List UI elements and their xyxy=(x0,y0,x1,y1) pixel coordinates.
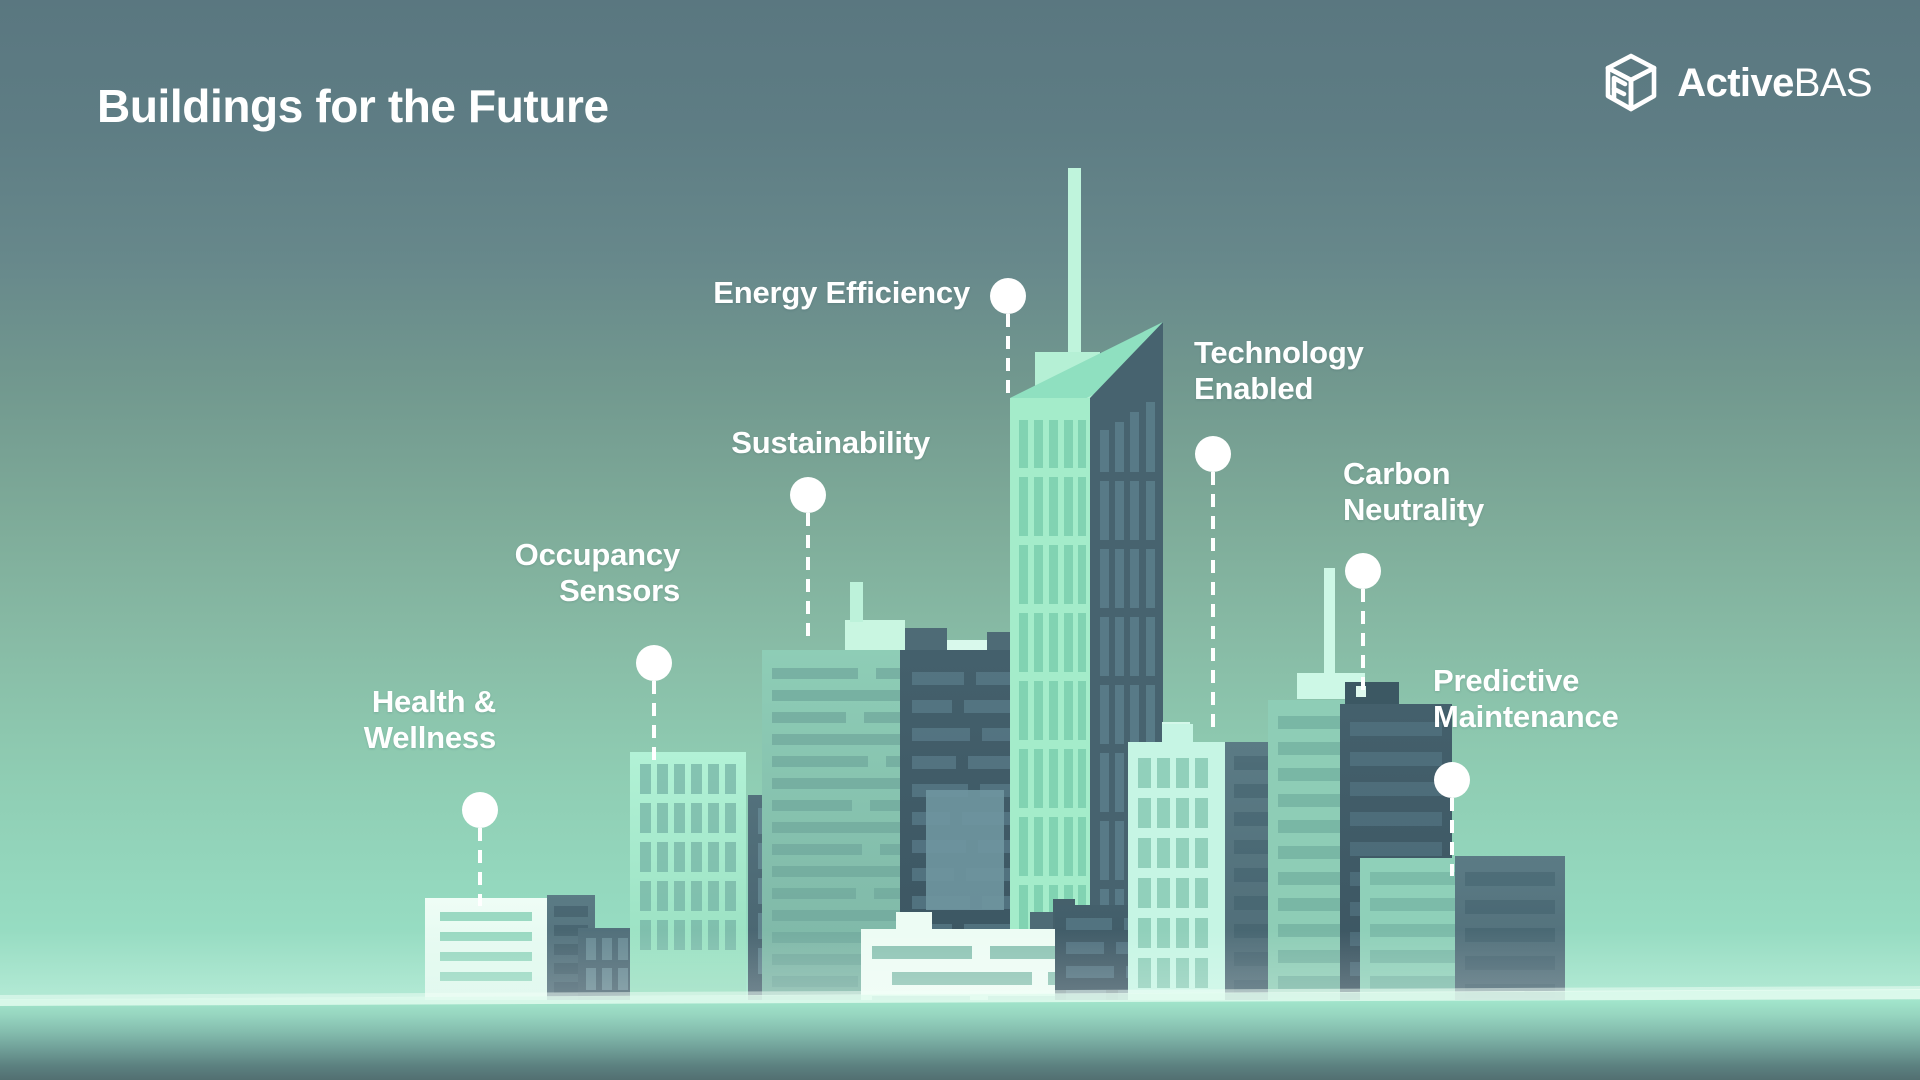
callout-label-carbon-neutrality: Carbon Neutrality xyxy=(1343,456,1663,529)
callout-marker-sustainability[interactable] xyxy=(790,477,826,513)
callout-label-health-wellness: Health & Wellness xyxy=(196,684,496,757)
callout-marker-carbon-neutrality[interactable] xyxy=(1345,553,1381,589)
horizon-highlight xyxy=(0,986,1920,1006)
brand-name-light: BAS xyxy=(1794,61,1872,105)
brand-logo-text: ActiveBAS xyxy=(1677,63,1872,103)
callout-marker-predictive-maintenance[interactable] xyxy=(1434,762,1470,798)
callout-label-predictive-maintenance: Predictive Maintenance xyxy=(1433,663,1833,736)
callout-leader-line-health-wellness xyxy=(478,828,482,906)
city-skyline-illustration xyxy=(0,0,1920,1080)
callout-label-energy-efficiency: Energy Efficiency xyxy=(400,275,970,311)
callout-leader-line-technology-enabled xyxy=(1211,472,1215,734)
building-slate-box-center xyxy=(926,790,1004,910)
callout-label-technology-enabled: Technology Enabled xyxy=(1194,335,1534,408)
callout-leader-line-energy-efficiency xyxy=(1006,314,1010,396)
callout-leader-line-occupancy-sensors xyxy=(652,681,656,767)
callout-marker-occupancy-sensors[interactable] xyxy=(636,645,672,681)
page-title: Buildings for the Future xyxy=(97,83,609,129)
callout-marker-health-wellness[interactable] xyxy=(462,792,498,828)
brand-logo[interactable]: ActiveBAS xyxy=(1602,52,1872,114)
callout-leader-line-predictive-maintenance xyxy=(1450,798,1454,876)
callout-label-sustainability: Sustainability xyxy=(460,425,930,461)
ground-plane xyxy=(0,1000,1920,1080)
brand-name-bold: Active xyxy=(1677,61,1793,105)
infographic-canvas: Buildings for the Future ActiveBAS Healt… xyxy=(0,0,1920,1080)
callout-marker-energy-efficiency[interactable] xyxy=(990,278,1026,314)
callout-leader-line-sustainability xyxy=(806,513,810,638)
callout-marker-technology-enabled[interactable] xyxy=(1195,436,1231,472)
callout-leader-line-carbon-neutrality xyxy=(1361,589,1365,699)
callout-label-occupancy-sensors: Occupancy Sensors xyxy=(330,537,680,610)
isometric-cube-logo-icon xyxy=(1602,52,1660,114)
